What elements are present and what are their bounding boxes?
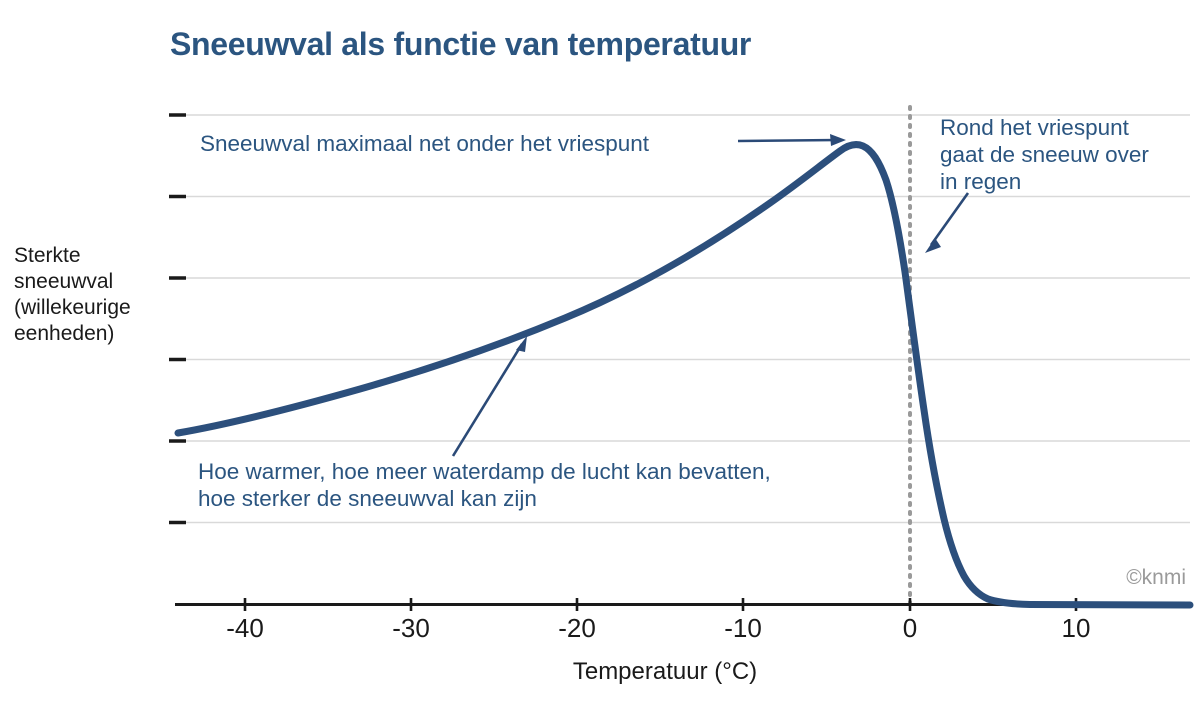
x-tick-label-minus-20: -20 [558, 613, 596, 644]
x-tick-label-minus-30: -30 [392, 613, 430, 644]
x-tick-label-minus-10: -10 [724, 613, 762, 644]
annotation-peak: Sneeuwval maximaal net onder het vriespu… [200, 130, 649, 157]
x-tick-label-minus-40: -40 [226, 613, 264, 644]
chart-root: Sneeuwval als functie van temperatuur St… [0, 0, 1200, 718]
annotation-freezing-line-2: gaat de sneeuw over [940, 141, 1190, 168]
annotation-arrow-freezing [925, 193, 968, 253]
watermark: ©knmi [1126, 566, 1186, 590]
snowfall-curve [178, 145, 1190, 605]
x-tick-label-zero: 0 [903, 613, 917, 644]
plot-area [0, 0, 1200, 718]
annotation-freezing-line-1: Rond het vriespunt [940, 114, 1190, 141]
annotation-peak-text: Sneeuwval maximaal net onder het vriespu… [200, 131, 649, 156]
annotation-warmer-line-2: hoe sterker de sneeuwval kan zijn [198, 485, 771, 512]
annotation-freezing: Rond het vriespunt gaat de sneeuw over i… [940, 114, 1190, 195]
annotation-warmer: Hoe warmer, hoe meer waterdamp de lucht … [198, 458, 771, 512]
x-axis-title: Temperatuur (°C) [0, 658, 1200, 686]
annotation-arrow-peak [738, 134, 846, 146]
y-axis-ticks [169, 115, 186, 523]
annotation-freezing-line-3: in regen [940, 168, 1190, 195]
x-tick-label-ten: 10 [1062, 613, 1091, 644]
x-axis-title-text: Temperatuur (°C) [573, 658, 757, 686]
annotation-warmer-line-1: Hoe warmer, hoe meer waterdamp de lucht … [198, 458, 771, 485]
